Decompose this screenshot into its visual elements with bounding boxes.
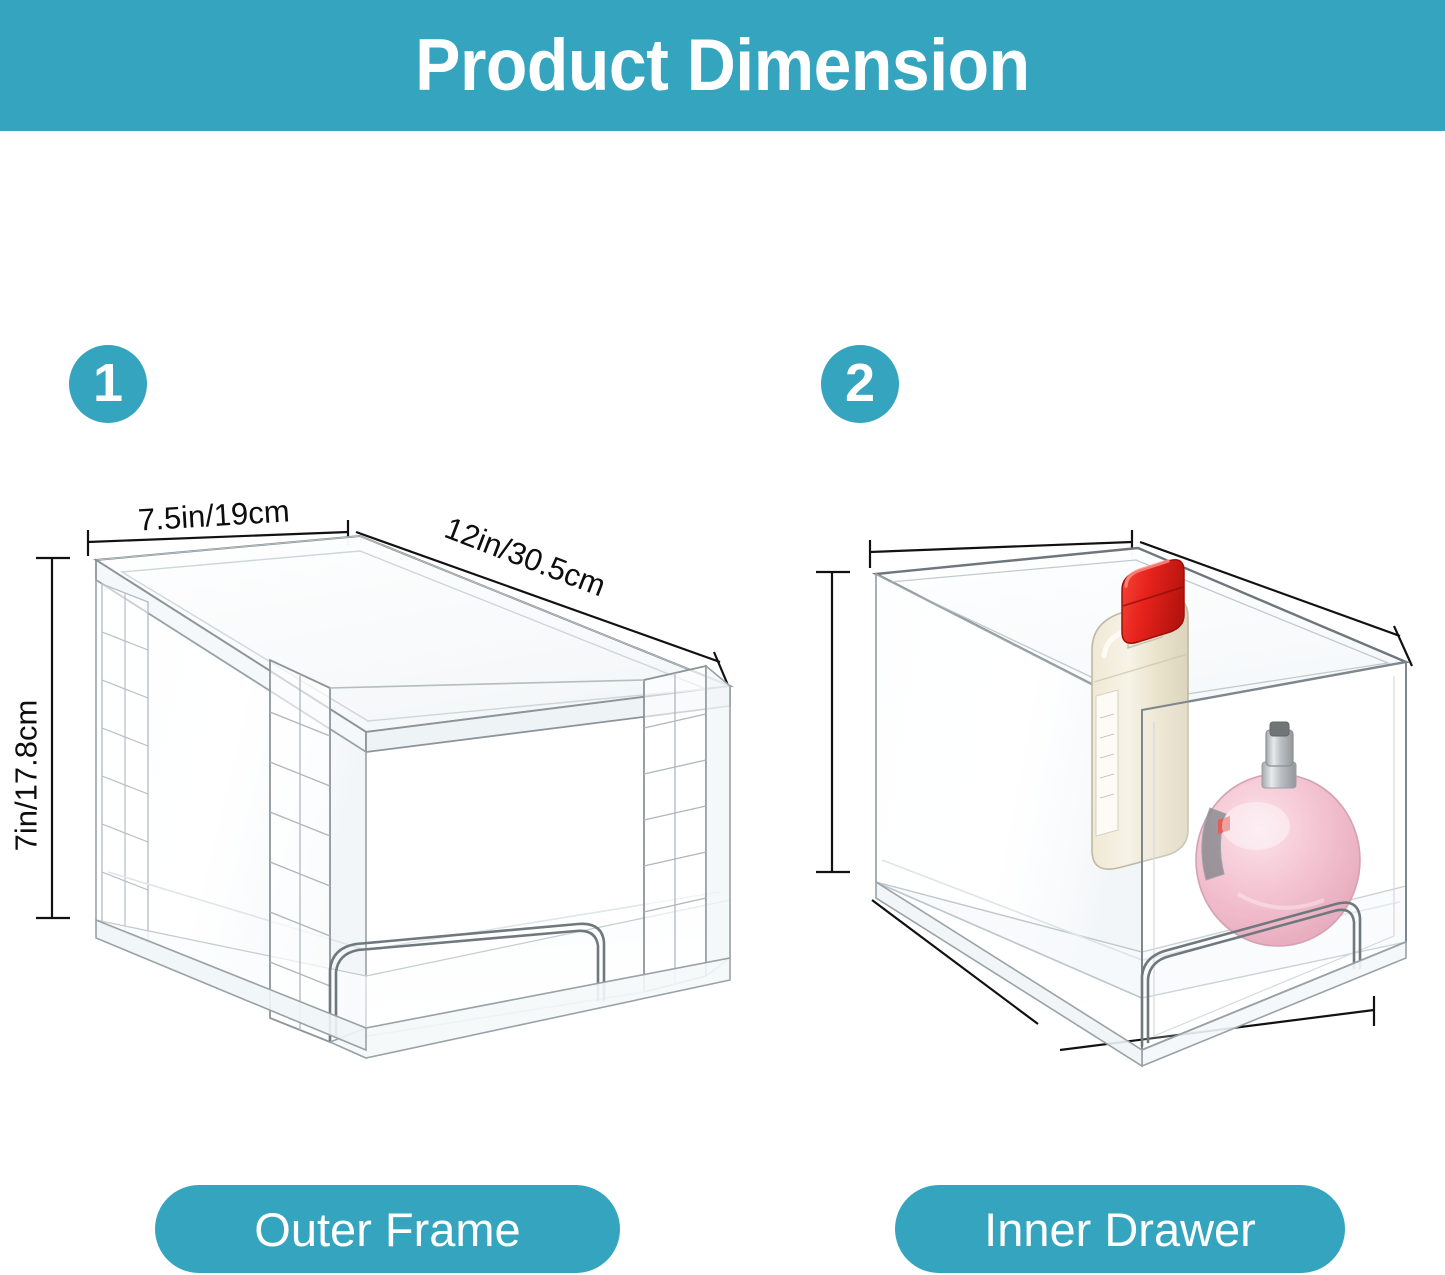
dim-line-height bbox=[816, 572, 850, 872]
caption-inner-drawer[interactable]: Inner Drawer bbox=[895, 1185, 1345, 1273]
frame-center-post bbox=[270, 660, 330, 1042]
caption-outer-frame[interactable]: Outer Frame bbox=[155, 1185, 620, 1273]
outer-frame-illustration bbox=[30, 480, 750, 1130]
product-panel-outer-frame: 1 bbox=[0, 0, 760, 1275]
frame-right-post bbox=[644, 666, 706, 992]
product-dimension-infographic: Product Dimension 1 bbox=[0, 0, 1445, 1275]
drawer-front-wall bbox=[1142, 662, 1406, 1050]
dimension-label-width: 7.5in/19cm bbox=[137, 495, 290, 535]
step-badge-1: 1 bbox=[69, 345, 147, 423]
product-panel-inner-drawer: 2 bbox=[760, 0, 1445, 1275]
step-badge-2: 2 bbox=[821, 345, 899, 423]
inner-drawer-illustration bbox=[770, 490, 1440, 1140]
frame-right-wall bbox=[706, 666, 730, 976]
dimension-label-height: 7in/17.8cm bbox=[10, 700, 41, 852]
